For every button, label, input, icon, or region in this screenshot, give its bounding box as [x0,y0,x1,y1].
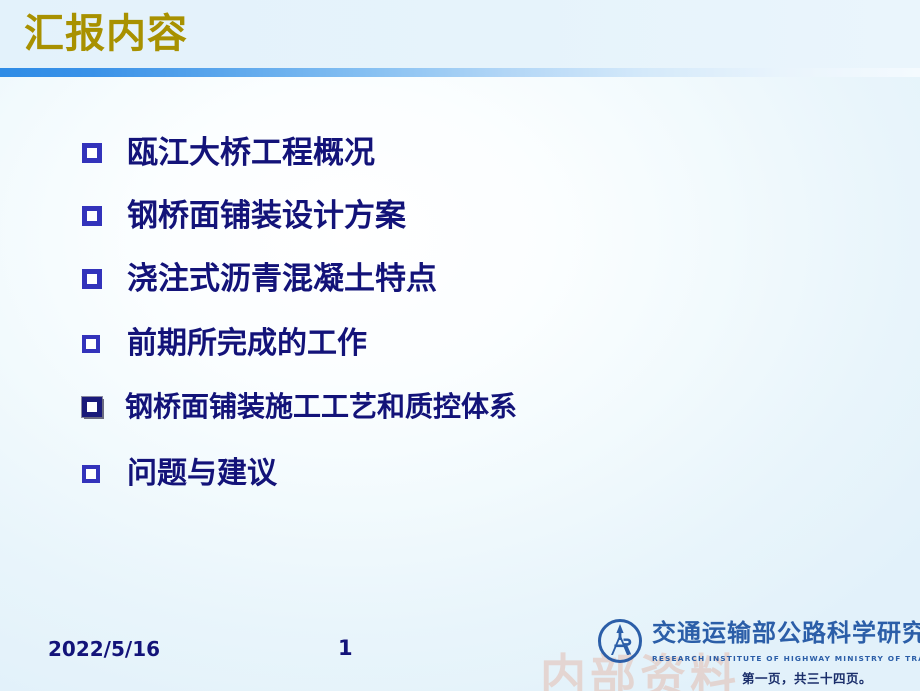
list-item-label: 钢桥面铺装施工工艺和质控体系 [125,390,517,423]
page-title: 汇报内容 [24,9,188,59]
list-item-label: 钢桥面铺装设计方案 [127,198,406,234]
slide-header: 汇报内容 [0,0,920,68]
list-item-selected[interactable]: 钢桥面铺装施工工艺和质控体系 [82,390,517,423]
page-count-note: 第一页，共三十四页。 [742,668,872,687]
list-item[interactable]: 瓯江大桥工程概况 [82,135,375,171]
list-item-label: 问题与建议 [127,456,277,491]
square-bullet-icon [82,206,102,226]
list-item[interactable]: 前期所完成的工作 [82,326,367,361]
list-item-label: 前期所完成的工作 [127,326,367,361]
square-bullet-icon [82,335,100,353]
footer-date: 2022/5/16 [48,637,160,661]
institute-name-block: 交通运输部公路科学研究院 RESEARCH INSTITUTE OF HIGHW… [652,617,920,665]
outline-list: 瓯江大桥工程概况 钢桥面铺装设计方案 浇注式沥青混凝土特点 前期所完成的工作 钢… [0,77,920,597]
footer-page-number: 1 [338,636,353,660]
square-bullet-icon [82,465,100,483]
institute-emblem-icon [596,617,644,665]
institute-name-en: RESEARCH INSTITUTE OF HIGHWAY MINISTRY O… [652,654,920,663]
list-item[interactable]: 浇注式沥青混凝土特点 [82,261,437,297]
presentation-slide: 内部资料 汇报内容 瓯江大桥工程概况 钢桥面铺装设计方案 浇注式沥青混凝土特点 … [0,0,920,691]
list-item[interactable]: 问题与建议 [82,456,277,491]
institute-name-cn: 交通运输部公路科学研究院 [652,619,920,647]
list-item-label: 浇注式沥青混凝土特点 [127,261,437,297]
list-item[interactable]: 钢桥面铺装设计方案 [82,198,406,234]
list-item-label: 瓯江大桥工程概况 [127,135,375,171]
institute-logo: 交通运输部公路科学研究院 RESEARCH INSTITUTE OF HIGHW… [596,617,920,665]
square-bullet-icon-selected[interactable] [82,397,102,417]
header-accent-bar [0,68,920,77]
square-bullet-icon [82,143,102,163]
square-bullet-icon [82,269,102,289]
